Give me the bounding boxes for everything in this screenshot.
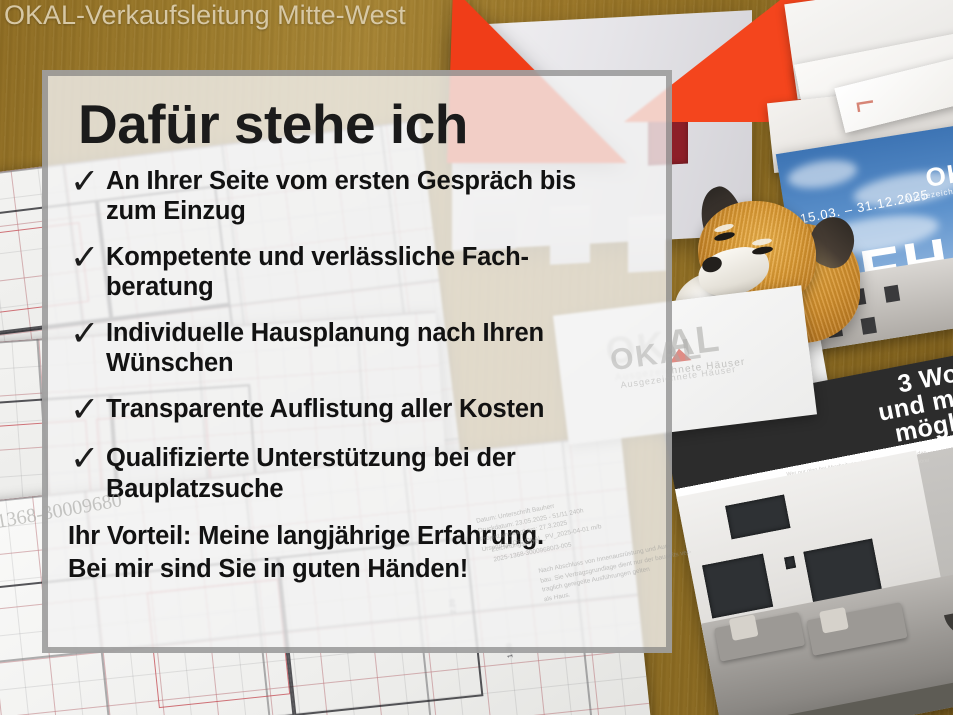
panel-heading: Dafür stehe ich bbox=[78, 96, 646, 154]
checkmark-icon: ✓ bbox=[64, 318, 106, 351]
list-item: ✓ Qualifizierte Unterstützung bei der Ba… bbox=[64, 443, 646, 503]
info-panel: Dafür stehe ich ✓ An Ihrer Seite vom ers… bbox=[42, 70, 672, 653]
list-item-label: Transparente Auflistung aller Kosten bbox=[106, 394, 544, 424]
photo-window-3 bbox=[884, 285, 900, 303]
list-item-label: Individuelle Hausplanung nach Ihren Wüns… bbox=[106, 318, 626, 378]
closing-line-1: Ihr Vorteil: Meine langjährige Erfahrung… bbox=[68, 520, 646, 553]
checkmark-icon: ✓ bbox=[64, 394, 106, 427]
facade-lamp bbox=[784, 556, 796, 570]
closing-statement: Ihr Vorteil: Meine langjährige Erfahrung… bbox=[68, 520, 646, 586]
checkmark-icon: ✓ bbox=[64, 242, 106, 275]
checkmark-icon: ✓ bbox=[64, 166, 106, 199]
benefits-list: ✓ An Ihrer Seite vom ersten Gespräch bis… bbox=[64, 166, 646, 504]
facade-window-1 bbox=[725, 495, 790, 540]
list-item-label: An Ihrer Seite vom ersten Gespräch bis z… bbox=[106, 166, 626, 226]
list-item-label: Qualifizierte Unterstützung bei der Baup… bbox=[106, 443, 626, 503]
list-item: ✓ Transparente Auflistung aller Kosten bbox=[64, 394, 646, 427]
checkmark-icon: ✓ bbox=[64, 443, 106, 476]
list-item-label: Kompetente und verlässliche Fach-beratun… bbox=[106, 242, 626, 302]
list-item: ✓ Individuelle Hausplanung nach Ihren Wü… bbox=[64, 318, 646, 378]
list-item: ✓ An Ihrer Seite vom ersten Gespräch bis… bbox=[64, 166, 646, 226]
screenshot-stage: ⌐ OKAL Ausgezeichnete Häuser 15.03. – 31… bbox=[0, 0, 953, 715]
list-item: ✓ Kompetente und verlässliche Fach-berat… bbox=[64, 242, 646, 302]
facade-window-2 bbox=[702, 554, 773, 619]
closing-line-2: Bei mir sind Sie in guten Händen! bbox=[68, 553, 646, 586]
page-title: OKAL-Verkaufsleitung Mitte-West bbox=[4, 0, 406, 31]
